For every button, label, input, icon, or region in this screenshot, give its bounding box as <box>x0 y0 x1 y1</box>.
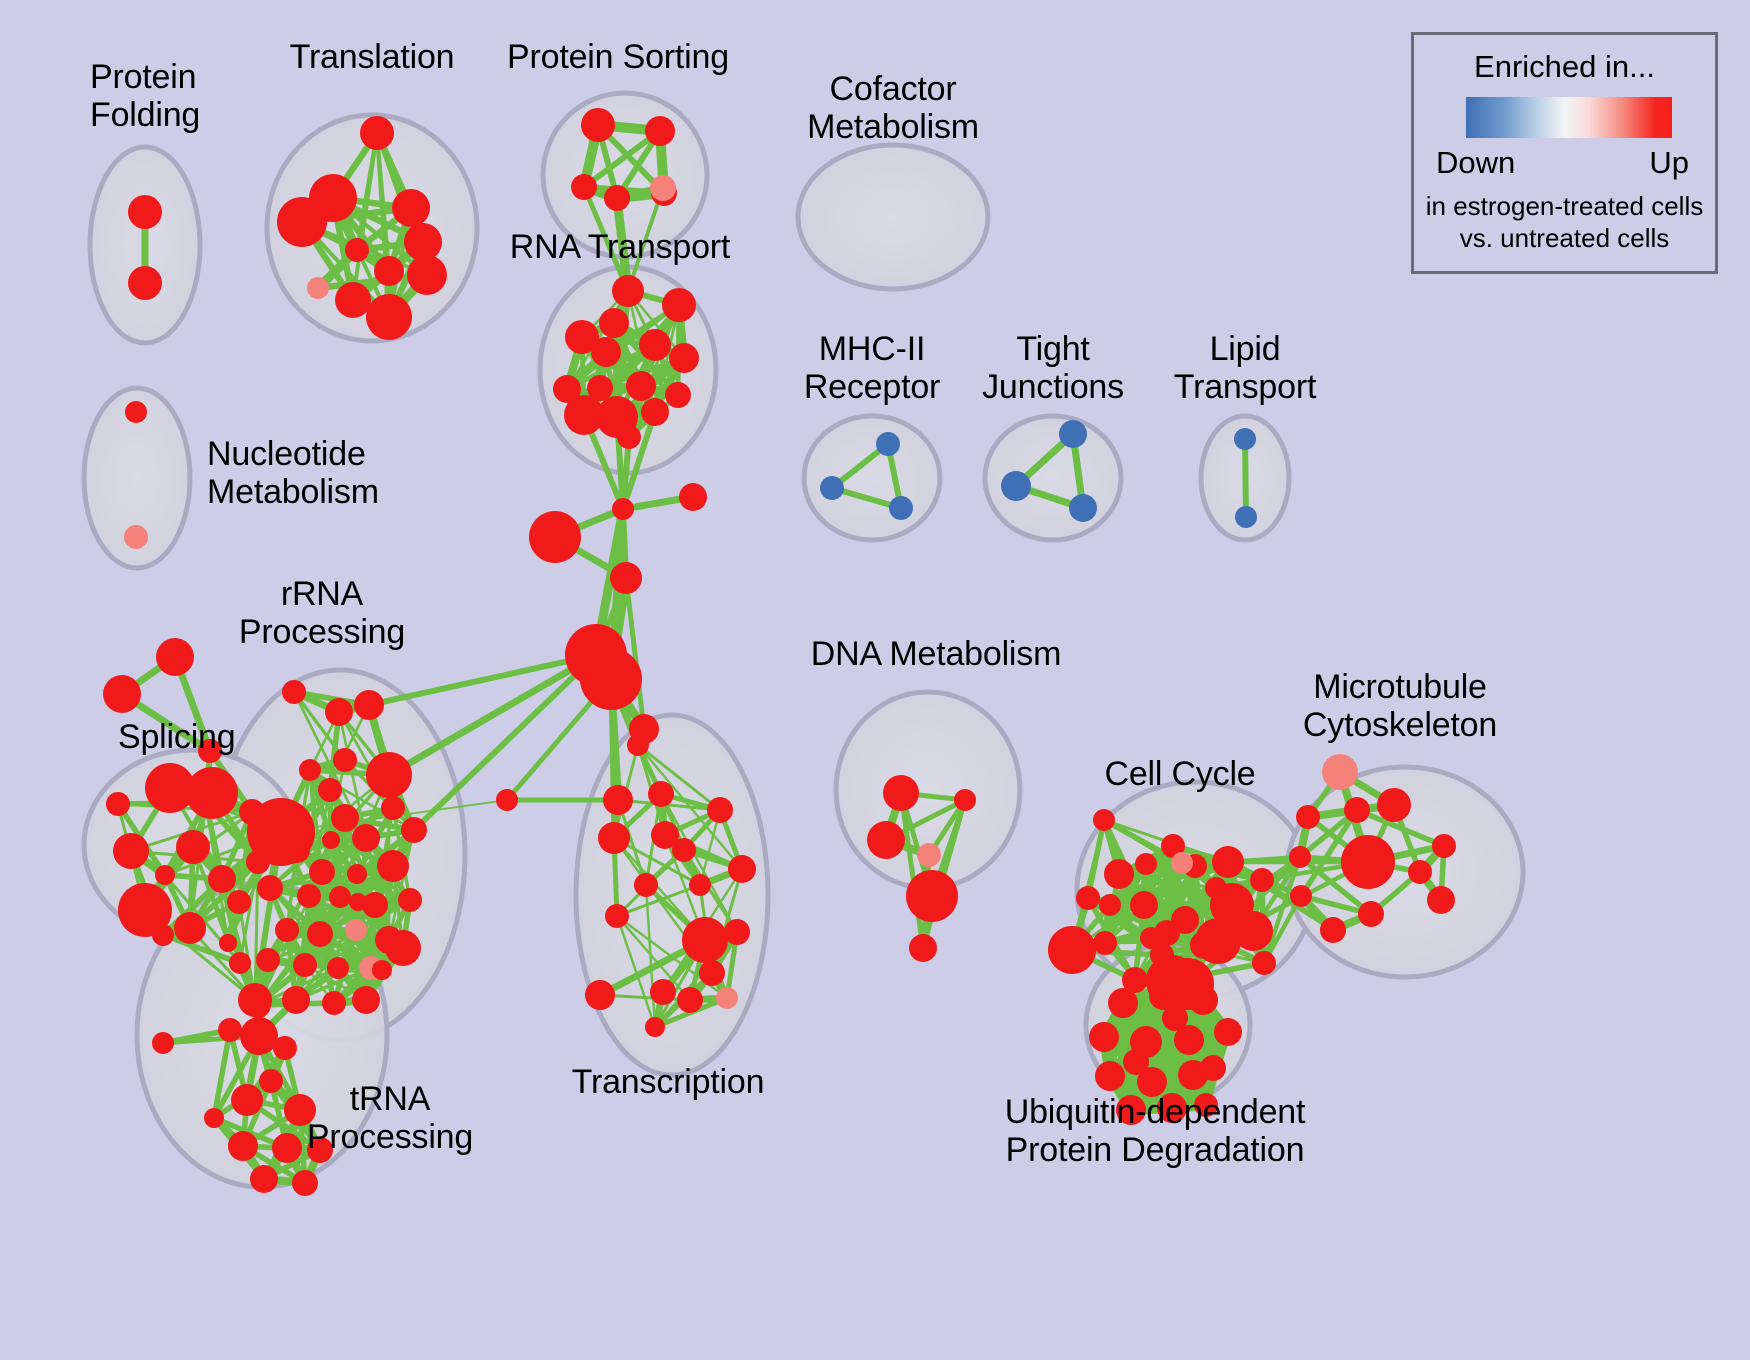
network-node <box>1135 853 1157 875</box>
cluster-label-microtubule-cytoskeleton: Microtubule Cytoskeleton <box>1303 668 1497 744</box>
network-node <box>1140 927 1162 949</box>
network-node <box>245 992 271 1018</box>
network-node <box>1341 835 1395 889</box>
network-node <box>820 476 844 500</box>
cluster-ellipse-cofactor-metabolism <box>798 145 988 289</box>
network-node <box>1250 868 1274 892</box>
network-node <box>639 329 671 361</box>
network-node <box>716 987 738 1009</box>
network-node <box>612 275 644 307</box>
network-node <box>650 979 676 1005</box>
network-node <box>124 525 148 549</box>
network-node <box>352 824 380 852</box>
network-node <box>292 1170 318 1196</box>
network-node <box>1162 1005 1188 1031</box>
cluster-label-tight-junctions: Tight Junctions <box>982 330 1124 406</box>
network-node <box>325 698 353 726</box>
network-node <box>1290 885 1312 907</box>
cluster-label-transcription: Transcription <box>572 1063 765 1101</box>
network-node <box>1205 877 1227 899</box>
cluster-label-nucleotide-metabolism: Nucleotide Metabolism <box>207 435 379 511</box>
network-node <box>360 116 394 150</box>
network-node <box>228 1131 258 1161</box>
network-node <box>1200 1055 1226 1081</box>
network-node <box>689 874 711 896</box>
network-node <box>272 1133 302 1163</box>
network-node <box>603 785 633 815</box>
network-node <box>662 288 696 322</box>
network-node <box>1104 859 1134 889</box>
network-figure: Protein FoldingTranslationProtein Sortin… <box>0 0 1750 1360</box>
network-node <box>1188 985 1218 1015</box>
network-node <box>665 382 691 408</box>
network-node <box>1358 901 1384 927</box>
network-node <box>174 912 206 944</box>
network-node <box>1130 891 1158 919</box>
network-node <box>113 833 149 869</box>
cluster-ellipse-mhc-ii-receptor <box>804 416 940 540</box>
network-node <box>909 934 937 962</box>
network-node <box>617 425 641 449</box>
network-node <box>1171 852 1193 874</box>
network-node <box>277 197 327 247</box>
cluster-label-mhc-ii-receptor: MHC-II Receptor <box>804 330 940 406</box>
network-node <box>876 432 900 456</box>
network-node <box>1322 754 1358 790</box>
cluster-label-lipid-transport: Lipid Transport <box>1174 330 1316 406</box>
network-node <box>103 675 141 713</box>
network-node <box>401 817 427 843</box>
network-node <box>128 266 162 300</box>
network-node <box>381 796 405 820</box>
network-node <box>1048 926 1096 974</box>
network-node <box>529 511 581 563</box>
network-node <box>724 919 750 945</box>
network-node <box>728 855 756 883</box>
network-node <box>125 401 147 423</box>
cluster-label-protein-sorting: Protein Sorting <box>507 38 729 76</box>
network-node <box>155 865 175 885</box>
cluster-label-rrna-processing: rRNA Processing <box>239 575 405 651</box>
network-node <box>1059 420 1087 448</box>
network-node <box>1377 788 1411 822</box>
network-node <box>377 850 409 882</box>
network-node <box>627 734 649 756</box>
network-node <box>231 1084 263 1116</box>
network-node <box>1099 894 1121 916</box>
network-node <box>1432 834 1456 858</box>
network-node <box>591 337 621 367</box>
network-node <box>331 804 359 832</box>
network-node <box>374 256 404 286</box>
network-node <box>672 838 696 862</box>
network-node <box>345 919 367 941</box>
network-node <box>641 398 669 426</box>
network-node <box>385 930 421 966</box>
cluster-label-trna-processing: tRNA Processing <box>307 1080 473 1156</box>
network-node <box>1214 1018 1242 1046</box>
cluster-label-cofactor-metabolism: Cofactor Metabolism <box>807 70 979 146</box>
network-node <box>1076 886 1100 910</box>
network-node <box>333 748 357 772</box>
network-node <box>307 921 333 947</box>
network-node <box>496 789 518 811</box>
network-node <box>366 294 412 340</box>
network-node <box>282 680 306 704</box>
network-node <box>404 223 442 261</box>
network-node <box>648 781 674 807</box>
network-node <box>208 865 236 893</box>
network-node <box>906 870 958 922</box>
cluster-label-dna-metabolism: DNA Metabolism <box>811 635 1061 673</box>
network-node <box>1108 988 1138 1018</box>
legend-title: Enriched in... <box>1414 49 1715 85</box>
network-node <box>707 797 733 823</box>
network-node <box>1289 846 1311 868</box>
cluster-label-ubiquitin-protein-degradation: Ubiquitin-dependent Protein Degradation <box>1005 1093 1306 1169</box>
network-node <box>275 918 299 942</box>
network-node <box>1233 911 1273 951</box>
network-node <box>227 890 251 914</box>
network-node <box>193 790 219 816</box>
network-node <box>259 1069 283 1093</box>
network-node <box>599 308 629 338</box>
network-node <box>1212 846 1244 878</box>
network-node <box>156 638 194 676</box>
legend-caption: in estrogen-treated cells vs. untreated … <box>1414 190 1715 254</box>
network-node <box>152 924 174 946</box>
network-node <box>699 960 725 986</box>
network-node <box>604 185 630 211</box>
network-node <box>329 886 351 908</box>
network-node <box>1235 506 1257 528</box>
network-node <box>349 893 367 911</box>
network-node <box>372 960 392 980</box>
network-node <box>645 116 675 146</box>
network-node <box>1320 917 1346 943</box>
network-node <box>152 1032 174 1054</box>
network-node <box>669 343 699 373</box>
network-node <box>580 648 642 710</box>
legend-high-label: Up <box>1649 145 1689 181</box>
network-edge <box>369 655 596 705</box>
network-node <box>917 843 941 867</box>
network-node <box>1427 886 1455 914</box>
network-node <box>297 884 321 908</box>
network-node <box>634 873 658 897</box>
network-node <box>1093 809 1115 831</box>
network-node <box>1093 931 1117 955</box>
network-node <box>318 778 342 802</box>
network-node <box>954 789 976 811</box>
network-node <box>273 1036 297 1060</box>
network-node <box>250 1165 278 1193</box>
network-node <box>1408 860 1432 884</box>
network-node <box>682 917 728 963</box>
network-node <box>366 752 412 798</box>
network-node <box>1344 797 1370 823</box>
network-node <box>407 255 447 295</box>
network-node <box>347 864 367 884</box>
network-node <box>219 934 237 952</box>
network-node <box>626 371 656 401</box>
network-node <box>257 875 283 901</box>
network-node <box>176 830 210 864</box>
cluster-label-splicing: Splicing <box>118 718 235 756</box>
network-node <box>610 562 642 594</box>
legend-low-label: Down <box>1436 145 1515 181</box>
network-node <box>867 821 905 859</box>
network-node <box>284 837 310 863</box>
network-node <box>398 888 422 912</box>
network-node <box>677 987 703 1013</box>
cluster-label-translation: Translation <box>290 38 455 76</box>
network-node <box>612 498 634 520</box>
network-node <box>307 277 329 299</box>
cluster-label-protein-folding: Protein Folding <box>90 58 200 134</box>
network-node <box>605 904 629 928</box>
network-node <box>354 690 384 720</box>
network-node <box>229 952 251 974</box>
network-node <box>128 195 162 229</box>
network-node <box>240 1017 278 1055</box>
network-node <box>1001 471 1031 501</box>
network-node <box>889 496 913 520</box>
network-node <box>1171 906 1199 934</box>
network-node <box>1095 1061 1125 1091</box>
network-node <box>598 822 630 854</box>
network-node <box>218 1018 242 1042</box>
network-node <box>571 174 597 200</box>
network-edge <box>1245 439 1246 517</box>
network-node <box>106 792 130 816</box>
network-node <box>645 1017 665 1037</box>
network-node <box>1069 494 1097 522</box>
network-node <box>282 986 310 1014</box>
network-node <box>345 238 369 262</box>
network-node <box>1252 951 1276 975</box>
network-node <box>322 991 346 1015</box>
cluster-label-cell-cycle: Cell Cycle <box>1104 755 1255 793</box>
network-node <box>335 282 371 318</box>
network-node <box>352 986 380 1014</box>
network-node <box>679 483 707 511</box>
network-node <box>1089 1022 1119 1052</box>
network-node <box>256 948 280 972</box>
network-node <box>581 108 615 142</box>
network-node <box>204 1108 224 1128</box>
legend-box: Enriched in... Down Up in estrogen-treat… <box>1411 32 1718 274</box>
network-node <box>299 759 321 781</box>
network-node <box>293 953 317 977</box>
legend-color-bar <box>1466 97 1672 138</box>
network-node <box>309 859 335 885</box>
network-node <box>1234 428 1256 450</box>
network-node <box>650 175 676 201</box>
network-node <box>1123 1049 1149 1075</box>
network-node <box>883 775 919 811</box>
network-node <box>585 980 615 1010</box>
cluster-label-rna-transport: RNA Transport <box>510 228 730 266</box>
network-node <box>392 189 430 227</box>
network-node <box>327 957 349 979</box>
network-node <box>1296 805 1320 829</box>
network-node <box>322 831 340 849</box>
